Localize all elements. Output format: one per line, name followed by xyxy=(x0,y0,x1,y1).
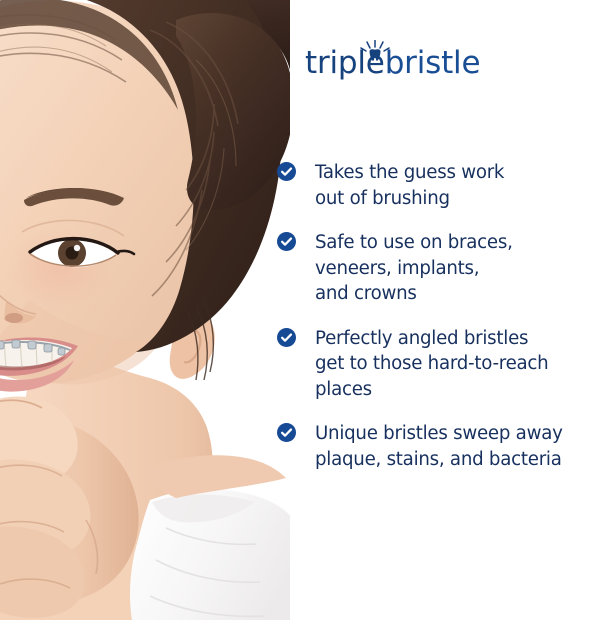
brand-logo-word-bristle: bristle xyxy=(385,45,481,81)
list-item-label: Unique bristles sweep away plaque, stain… xyxy=(315,421,600,472)
list-item: Perfectly angled bristles get to those h… xyxy=(277,326,600,403)
brand-logo: triplebristle xyxy=(305,38,565,94)
woman-with-braces-photo xyxy=(0,0,290,620)
feature-list: Takes the guess work out of brushing Saf… xyxy=(277,160,600,472)
list-item-label: Safe to use on braces, veneers, implants… xyxy=(315,230,600,307)
list-item: Unique bristles sweep away plaque, stain… xyxy=(277,421,600,472)
brand-logo-text: triplebristle xyxy=(305,48,480,79)
list-item: Takes the guess work out of brushing xyxy=(277,160,600,211)
check-circle-icon xyxy=(277,232,296,251)
content-pane: triplebristle Takes the xyxy=(272,0,600,620)
check-circle-icon xyxy=(277,423,296,442)
list-item-label: Perfectly angled bristles get to those h… xyxy=(315,326,600,403)
check-circle-icon xyxy=(277,328,296,347)
list-item: Safe to use on braces, veneers, implants… xyxy=(277,230,600,307)
portrait-illustration xyxy=(0,0,290,620)
list-item-label: Takes the guess work out of brushing xyxy=(315,160,600,211)
product-feature-card: triplebristle Takes the xyxy=(0,0,600,620)
check-circle-icon xyxy=(277,162,296,181)
tooth-sparkle-icon xyxy=(358,40,392,66)
